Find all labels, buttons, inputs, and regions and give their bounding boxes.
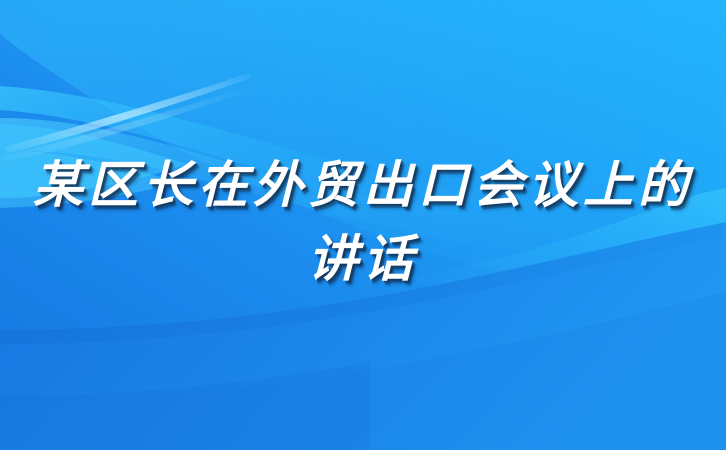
headline-block: 某区长在外贸出口会议上的 讲话 [0,148,726,296]
headline-line-2: 讲话 [0,222,726,296]
headline-line-1: 某区长在外贸出口会议上的 [0,148,726,222]
title-banner: 某区长在外贸出口会议上的 讲话 [0,0,726,450]
